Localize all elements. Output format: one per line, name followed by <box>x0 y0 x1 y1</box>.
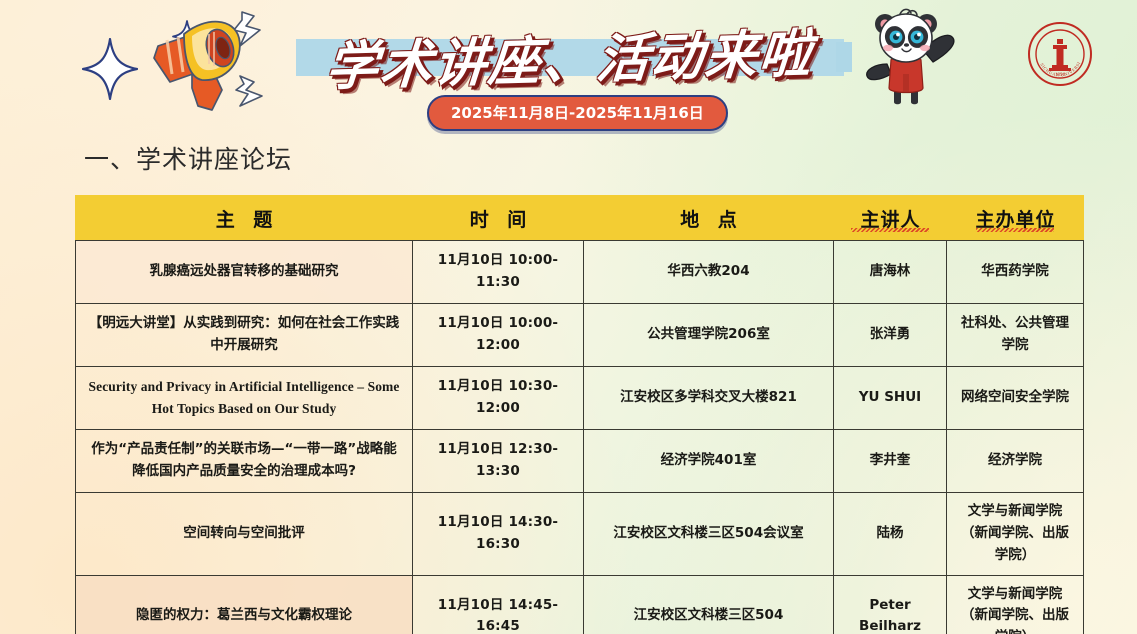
cell-time: 11月10日 14:30-16:30 <box>413 493 584 576</box>
table-head: 主 题 时 间 地 点 主讲人 主办单位 <box>76 196 1084 241</box>
cell-time: 11月10日 10:00-12:00 <box>413 304 584 367</box>
cell-org: 文学与新闻学院 （新闻学院、出版学院） <box>947 493 1084 576</box>
column-header-place: 地 点 <box>584 196 834 241</box>
schedule-table: 主 题 时 间 地 点 主讲人 主办单位 乳腺癌远处器官转移的基础研究 <box>75 195 1084 634</box>
cell-topic: 乳腺癌远处器官转移的基础研究 <box>76 241 413 304</box>
cell-speaker: YU SHUI <box>834 367 947 430</box>
cell-speaker: Peter Beilharz <box>834 575 947 634</box>
cell-speaker: 李井奎 <box>834 430 947 493</box>
table-row: 【明远大讲堂】从实践到研究：如何在社会工作实践中开展研究 11月10日 10:0… <box>76 304 1084 367</box>
cell-time: 11月10日 14:45-16:45 <box>413 575 584 634</box>
column-header-topic: 主 题 <box>76 196 413 241</box>
cell-speaker: 唐海林 <box>834 241 947 304</box>
cell-place: 公共管理学院206室 <box>584 304 834 367</box>
cell-time: 11月10日 10:00-11:30 <box>413 241 584 304</box>
university-logo-icon: 1896 SICHUAN UNIVERSITY <box>1027 21 1093 87</box>
cell-topic: 隐匿的权力：葛兰西与文化霸权理论 <box>76 575 413 634</box>
cell-topic: Security and Privacy in Artificial Intel… <box>76 367 413 430</box>
table-row: Security and Privacy in Artificial Intel… <box>76 367 1084 430</box>
cell-place: 华西六教204 <box>584 241 834 304</box>
cell-place: 经济学院401室 <box>584 430 834 493</box>
cell-org: 社科处、公共管理学院 <box>947 304 1084 367</box>
sparkle-icon <box>82 38 138 100</box>
cell-org: 华西药学院 <box>947 241 1084 304</box>
table-row: 空间转向与空间批评 11月10日 14:30-16:30 江安校区文科楼三区50… <box>76 493 1084 576</box>
page-title: 学术讲座、活动来啦 <box>292 10 847 99</box>
cell-place: 江安校区多学科交叉大楼821 <box>584 367 834 430</box>
table-row: 乳腺癌远处器官转移的基础研究 11月10日 10:00-11:30 华西六教20… <box>76 241 1084 304</box>
cell-topic: 【明远大讲堂】从实践到研究：如何在社会工作实践中开展研究 <box>76 304 413 367</box>
table-row: 作为“产品责任制”的关联市场—“一带一路”战略能降低国内产品质量安全的治理成本吗… <box>76 430 1084 493</box>
cell-time: 11月10日 10:30-12:00 <box>413 367 584 430</box>
spellcheck-squiggle-icon <box>976 228 1054 232</box>
spellcheck-squiggle-icon <box>851 228 929 232</box>
cell-org: 经济学院 <box>947 430 1084 493</box>
poster-header: 学术讲座、活动来啦 2025年11月8日-2025年11月16日 <box>0 0 1137 140</box>
megaphone-icon <box>136 6 272 118</box>
cell-topic: 作为“产品责任制”的关联市场—“一带一路”战略能降低国内产品质量安全的治理成本吗… <box>76 430 413 493</box>
column-header-org: 主办单位 <box>947 196 1084 241</box>
table-row: 隐匿的权力：葛兰西与文化霸权理论 11月10日 14:45-16:45 江安校区… <box>76 575 1084 634</box>
schedule-table-container: 主 题 时 间 地 点 主讲人 主办单位 乳腺癌远处器官转移的基础研究 <box>75 195 1083 634</box>
table-header-row: 主 题 时 间 地 点 主讲人 主办单位 <box>76 196 1084 241</box>
section-heading: 一、学术讲座论坛 <box>84 140 292 176</box>
column-header-speaker: 主讲人 <box>834 196 947 241</box>
table-body: 乳腺癌远处器官转移的基础研究 11月10日 10:00-11:30 华西六教20… <box>76 241 1084 634</box>
date-range-badge: 2025年11月8日-2025年11月16日 <box>427 95 728 131</box>
column-header-time: 时 间 <box>413 196 584 241</box>
cell-place: 江安校区文科楼三区504会议室 <box>584 493 834 576</box>
cell-speaker: 张洋勇 <box>834 304 947 367</box>
cell-speaker: 陆杨 <box>834 493 947 576</box>
cell-org: 网络空间安全学院 <box>947 367 1084 430</box>
cell-topic: 空间转向与空间批评 <box>76 493 413 576</box>
cell-place: 江安校区文科楼三区504 <box>584 575 834 634</box>
poster-page: 学术讲座、活动来啦 2025年11月8日-2025年11月16日 <box>0 0 1137 634</box>
cell-time: 11月10日 12:30-13:30 <box>413 430 584 493</box>
panda-mascot-icon <box>845 2 965 107</box>
cell-org: 文学与新闻学院 （新闻学院、出版学院） <box>947 575 1084 634</box>
